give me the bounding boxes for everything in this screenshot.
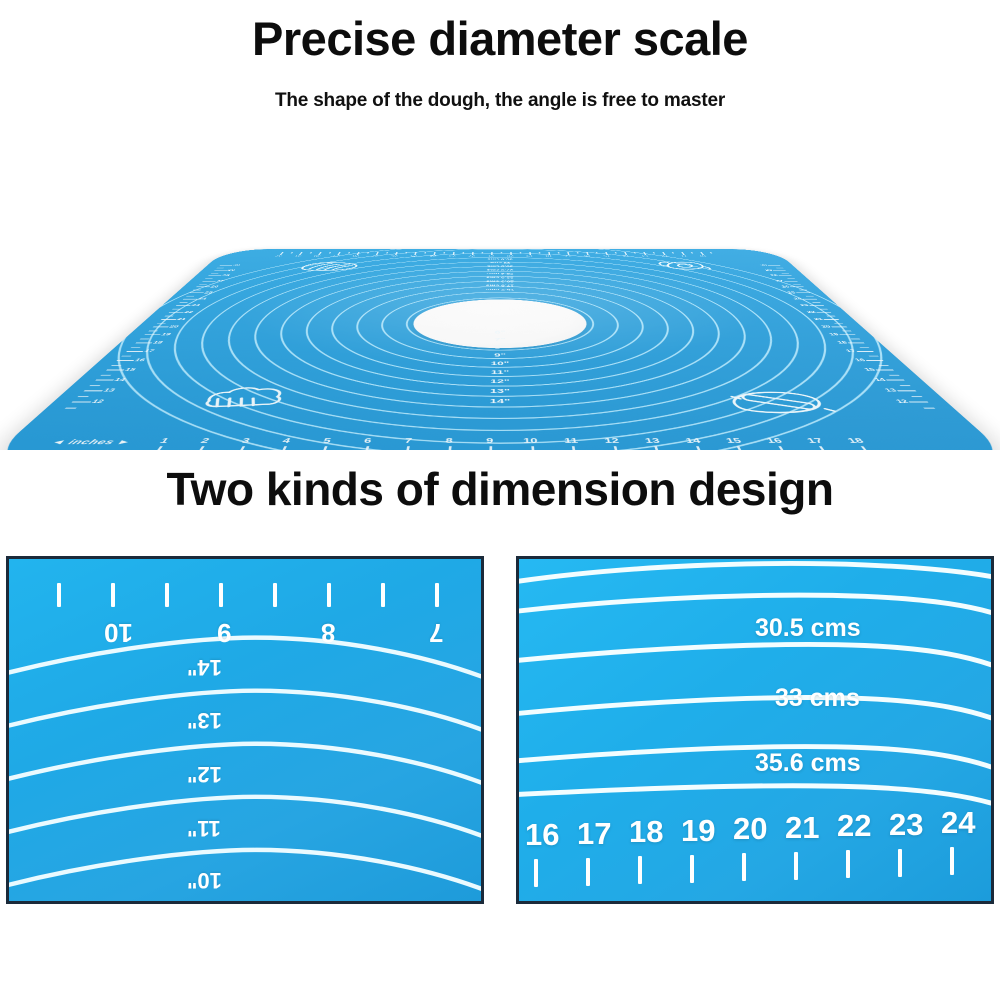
ruler-number: 27: [775, 280, 785, 282]
ruler-tick-minor: [199, 284, 207, 285]
ruler-number: 14: [684, 438, 702, 445]
ruler-tick: [405, 446, 410, 450]
ruler-number: 19: [526, 255, 533, 257]
ruler-number: 5: [322, 438, 332, 445]
ruler-number: 22: [183, 311, 194, 314]
ruler-tick-minor: [868, 356, 878, 357]
panel-ruler-tick: [273, 583, 277, 607]
panel-ruler-number: 7: [429, 617, 443, 648]
ruler-number: 32: [275, 255, 283, 257]
panel-ruler-tick: [950, 847, 954, 875]
ruler-tick-minor: [386, 252, 388, 254]
ruler-tick: [321, 446, 328, 450]
ruler-number: 16: [853, 358, 866, 362]
ruler-tick: [208, 275, 221, 276]
ruler-number: 23: [799, 304, 810, 307]
ruler-tick-minor: [805, 296, 813, 297]
ruler-tick-minor: [348, 252, 350, 254]
ruler-number: 12: [661, 255, 669, 257]
ruler-number: 20: [168, 325, 180, 328]
ruler-number: 18: [545, 255, 552, 257]
ruler-tick-minor: [157, 323, 166, 324]
mat-perspective-stage: 6"7"8"9"10"11"12"13"14" 35.6 cms33 cms30…: [120, 130, 880, 450]
panel-ruler-number: 23: [889, 807, 923, 843]
ruler-tick-minor: [615, 252, 617, 254]
panel-ruler-number: 19: [681, 813, 715, 849]
ruler-tick-minor: [89, 385, 100, 386]
ruler-number: 17: [143, 349, 156, 353]
ruler-tick-minor: [577, 252, 579, 254]
ruler-number: 16: [584, 255, 591, 257]
ruler-number: 13: [102, 388, 117, 393]
ruler-number: 29: [333, 255, 341, 257]
silicone-baking-mat: 6"7"8"9"10"11"12"13"14" 35.6 cms33 cms30…: [0, 249, 1000, 450]
section-title: Two kinds of dimension design: [0, 462, 1000, 516]
ruler-tick-minor: [878, 365, 889, 366]
ruler-number: 24: [430, 255, 437, 257]
ruler-tick: [778, 275, 791, 276]
ring-cm-label: 35.6 cms: [487, 258, 513, 260]
ruler-number: 6: [363, 438, 372, 445]
ruler-number: 13: [644, 438, 661, 445]
panel-ruler-number: 18: [629, 814, 663, 850]
ruler-number: 15: [123, 368, 137, 372]
cms-detail-panel: 30.5 cms33 cms35.6 cms 16171819202122232…: [516, 556, 994, 904]
panel-ruler-tick: [111, 583, 115, 607]
ruler-tick-minor: [111, 365, 122, 366]
ruler-tick-minor: [850, 338, 860, 339]
ruler-tick-minor: [78, 396, 90, 397]
bread-loaf-icon: [294, 261, 364, 273]
ruler-number: 11: [680, 255, 688, 257]
ring-cm-label: 15.2 cms: [486, 288, 515, 291]
ruler-tick: [489, 446, 492, 450]
mat-top-cm-ruler: 3231302928272625242322212019181716151413…: [269, 252, 738, 257]
ruler-number: 7: [404, 438, 413, 445]
ruler-tick-minor: [165, 316, 174, 317]
ruler-tick-minor: [193, 290, 201, 291]
ruler-tick: [790, 287, 804, 288]
ruler-number: 27: [372, 255, 380, 257]
ruler-number: 22: [806, 311, 817, 314]
ruler-tick: [816, 312, 831, 313]
ruler-number: 13: [642, 255, 650, 257]
ring-cm-label: 17.8 cms: [486, 284, 514, 286]
ruler-tick-minor: [172, 309, 181, 310]
ruler-tick: [897, 390, 916, 391]
ruler-tick: [796, 293, 810, 294]
ruler-number: 2: [199, 438, 211, 445]
ruler-tick-minor: [710, 252, 713, 254]
ruler-tick: [161, 319, 177, 320]
ring-cm-label: 30.5 cms: [487, 265, 513, 267]
ring-inch-label: 13": [490, 388, 510, 394]
ruler-tick-minor: [799, 290, 807, 291]
ring-inch-label: 11": [491, 370, 509, 376]
ruler-tick-minor: [482, 252, 484, 254]
ruler-number: 15: [603, 255, 610, 257]
ruler-tick-minor: [596, 252, 598, 254]
ruler-number: 4: [281, 438, 292, 445]
ruler-number: 21: [176, 318, 187, 321]
panel-ruler-tick: [742, 853, 746, 881]
ruler-tick-minor: [367, 252, 369, 254]
ruler-number: 21: [488, 255, 495, 257]
ruler-tick-minor: [424, 252, 426, 254]
ring-inch-label: 8": [494, 345, 506, 350]
ruler-number: 8: [445, 438, 453, 445]
ruler-number: 19: [160, 333, 172, 336]
ruler-number: 21: [813, 318, 824, 321]
ruler-tick: [784, 281, 798, 282]
ruler-tick-minor: [405, 252, 407, 254]
panel-cms-label: 30.5 cms: [755, 614, 861, 643]
page-title: Precise diameter scale: [0, 14, 1000, 63]
ruler-number: 17: [805, 438, 825, 445]
ruler-tick: [866, 360, 884, 361]
ruler-tick: [202, 281, 216, 282]
ruler-number: 22: [468, 255, 475, 257]
ring-inch-label: 10": [491, 361, 510, 366]
ruler-tick: [819, 446, 829, 450]
inch-curve-lines: [9, 559, 481, 901]
ruler-tick-minor: [911, 396, 923, 397]
ruler-tick: [196, 287, 210, 288]
panel-ruler-tick: [690, 855, 694, 883]
ruler-tick-minor: [501, 252, 502, 254]
ruler-tick-minor: [463, 252, 465, 254]
ruler-tick: [886, 380, 905, 381]
panel-ruler-tick: [638, 856, 642, 884]
ring-cm-label: 20.3 cms: [486, 280, 514, 282]
ruler-tick-minor: [834, 323, 843, 324]
ruler-tick-minor: [65, 407, 77, 408]
ruler-tick: [194, 446, 204, 450]
ruler-number: 26: [210, 285, 220, 287]
ring-inch-label: 14": [490, 398, 511, 405]
ruler-tick: [236, 446, 245, 450]
ruler-number: 17: [845, 349, 858, 353]
panel-ruler-tick: [534, 859, 538, 887]
ruler-number: 29: [764, 269, 773, 271]
panel-curve-label: 14": [187, 654, 222, 680]
ruler-number: 23: [449, 255, 456, 257]
ruler-tick: [176, 305, 191, 306]
ruler-tick: [860, 446, 871, 450]
ruler-tick: [824, 319, 840, 320]
ruler-tick: [135, 342, 152, 343]
ruler-number: 12: [895, 399, 910, 404]
ruler-tick: [531, 446, 534, 450]
panel-ruler-tick: [219, 583, 223, 607]
ruler-tick-minor: [205, 278, 213, 279]
ring-cm-label: 27.9 cms: [487, 269, 514, 271]
ruler-tick: [809, 305, 824, 306]
ring-inch-label: 12": [490, 379, 510, 385]
ruler-tick: [363, 446, 369, 450]
ruler-tick: [126, 351, 143, 352]
ruler-tick: [447, 446, 451, 450]
ruler-number: 1: [158, 438, 171, 445]
ruler-tick-minor: [653, 252, 655, 254]
hero-product-image: 6"7"8"9"10"11"12"13"14" 35.6 cms33 cms30…: [0, 130, 1000, 450]
ring-inch-label: 9": [494, 353, 506, 358]
ruler-number: 20: [507, 255, 514, 257]
ruler-tick-minor: [819, 309, 828, 310]
ruler-tick-minor: [558, 252, 560, 254]
ruler-tick-minor: [634, 252, 636, 254]
ruler-tick-minor: [131, 347, 141, 348]
ruler-tick: [737, 446, 745, 450]
panel-ruler-number: 10: [104, 617, 133, 648]
ruler-number: 25: [203, 291, 213, 294]
ruler-number: 26: [780, 285, 790, 287]
ruler-number: 24: [793, 297, 804, 300]
ruler-tick: [152, 446, 163, 450]
ruler-number: 14: [113, 377, 127, 381]
panel-ruler-tick: [327, 583, 331, 607]
ruler-tick-minor: [179, 302, 188, 303]
ruler-tick: [572, 446, 576, 450]
ring-inch-label: 6": [494, 330, 505, 335]
panel-curve-label: 10": [187, 867, 222, 893]
ruler-tick: [183, 299, 198, 300]
page-subtitle: The shape of the dough, the angle is fre…: [0, 90, 1000, 112]
ruler-tick-minor: [923, 407, 935, 408]
ruler-number: 18: [151, 341, 164, 345]
ring-inch-label: 7": [494, 337, 505, 342]
ruler-tick-minor: [842, 330, 851, 331]
ruler-tick-minor: [290, 252, 293, 254]
panel-ruler-tick: [898, 849, 902, 877]
ruler-number: 28: [221, 274, 230, 276]
panel-ruler-tick: [846, 850, 850, 878]
ruler-tick-minor: [121, 356, 131, 357]
ruler-tick: [153, 327, 169, 328]
ruler-tick: [654, 446, 660, 450]
ruler-tick-minor: [859, 347, 869, 348]
ruler-tick: [839, 334, 855, 335]
ruler-number: 26: [391, 255, 398, 257]
panel-ruler-number: 21: [785, 810, 819, 846]
ruler-number: 28: [352, 255, 360, 257]
ruler-tick: [279, 446, 287, 450]
ruler-number: 17: [565, 255, 572, 257]
ruler-number: 25: [786, 291, 796, 294]
ruler-tick-minor: [443, 252, 445, 254]
ruler-number: 30: [232, 264, 241, 266]
panel-ruler-tick: [381, 583, 385, 607]
panel-curve-label: 12": [187, 761, 222, 787]
ruler-number: 24: [197, 297, 208, 300]
ring-cm-label: 33 cms: [490, 262, 511, 264]
ruler-number: 13: [883, 388, 898, 393]
panel-ruler-number: 8: [321, 617, 335, 648]
panel-ruler-number: 16: [525, 817, 559, 853]
ruler-tick: [106, 370, 124, 371]
ruler-tick: [803, 299, 818, 300]
ruler-number: 15: [863, 368, 877, 372]
inches-detail-panel: 10987 14"13"12"11"10": [6, 556, 484, 904]
ruler-tick: [831, 327, 847, 328]
ruler-tick-minor: [149, 330, 158, 331]
ruler-number: 31: [294, 255, 302, 257]
ruler-number: 19: [828, 333, 840, 336]
ruler-tick: [695, 446, 702, 450]
ruler-number: 27: [215, 280, 225, 282]
ruler-tick: [71, 401, 91, 402]
ruler-tick: [857, 351, 874, 352]
ruler-number: 20: [820, 325, 832, 328]
ruler-tick: [848, 342, 865, 343]
ruler-tick: [144, 334, 160, 335]
panel-ruler-tick: [165, 583, 169, 607]
ruler-number: 12: [604, 438, 620, 445]
panel-ruler-tick: [57, 583, 61, 607]
ruler-tick-minor: [899, 385, 910, 386]
panel-ruler-number: 9: [217, 617, 231, 648]
ruler-tick-minor: [211, 273, 219, 274]
panel-ruler-tick: [435, 583, 439, 607]
panel-cms-label: 35.6 cms: [755, 749, 861, 778]
ruler-number: 30: [313, 255, 321, 257]
ruler-tick: [84, 390, 103, 391]
ruler-number: 28: [769, 274, 778, 276]
ruler-tick-minor: [781, 273, 789, 274]
ruler-tick-minor: [793, 284, 801, 285]
panel-cms-label: 33 cms: [775, 684, 860, 713]
ruler-number: 18: [846, 438, 866, 445]
ruler-number: 14: [622, 255, 630, 257]
ruler-tick: [876, 370, 894, 371]
ruler-tick-minor: [310, 252, 313, 254]
ruler-number: 29: [227, 269, 236, 271]
ruler-tick-minor: [520, 252, 522, 254]
ruler-number: 3: [240, 438, 251, 445]
panel-ruler-tick: [794, 852, 798, 880]
ruler-number: 9: [486, 438, 493, 445]
ruler-tick-minor: [691, 252, 694, 254]
panel-curve-label: 13": [187, 707, 222, 733]
ruler-tick: [169, 312, 184, 313]
mat-bottom-inch-ruler: ◄ inches ► 123456789101112131415161718: [37, 436, 963, 450]
ruler-number: 18: [836, 341, 849, 345]
ring-cm-label: 25.4 cms: [487, 272, 514, 274]
ruler-tick-minor: [888, 375, 899, 376]
ruler-tick: [613, 446, 618, 450]
ruler-tick-minor: [812, 302, 821, 303]
ruler-number: 14: [873, 377, 887, 381]
panel-curve-label: 11": [187, 815, 221, 841]
ruler-tick-minor: [787, 278, 795, 279]
ruler-number: 23: [190, 304, 201, 307]
panel-ruler-tick: [586, 858, 590, 886]
ruler-number: 16: [765, 438, 784, 445]
ruler-tick: [778, 446, 787, 450]
ruler-tick-minor: [539, 252, 541, 254]
ruler-number: 10: [699, 255, 707, 257]
ruler-tick: [909, 401, 929, 402]
ruler-number: 16: [133, 358, 146, 362]
panel-ruler-number: 22: [837, 808, 871, 844]
ruler-tick-minor: [329, 252, 332, 254]
ruler-tick-minor: [101, 375, 112, 376]
ruler-tick: [190, 293, 204, 294]
ruler-tick-minor: [672, 252, 675, 254]
ring-cm-label: 22.9 cms: [486, 276, 513, 278]
ruler-tick-minor: [186, 296, 194, 297]
panel-ruler-number: 24: [941, 805, 975, 841]
ruler-number: 10: [523, 438, 538, 445]
panel-ruler-number: 20: [733, 811, 767, 847]
ruler-number: 15: [725, 438, 743, 445]
egg-whisk-icon: [649, 260, 717, 273]
ruler-tick-minor: [140, 338, 150, 339]
ruler-tick-minor: [826, 316, 835, 317]
ruler-number: 30: [759, 264, 768, 266]
panel-ruler-number: 17: [577, 816, 611, 852]
ruler-number: 12: [90, 399, 105, 404]
ruler-tick: [116, 360, 134, 361]
ruler-tick: [95, 380, 114, 381]
ruler-number: 11: [564, 438, 579, 445]
ruler-number: 25: [410, 255, 417, 257]
